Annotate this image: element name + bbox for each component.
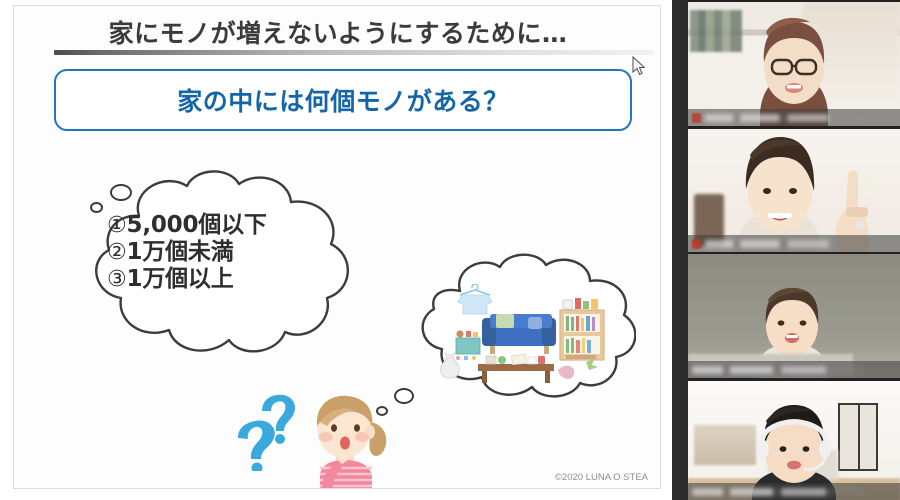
- presentation-slide: 家にモノが増えないようにするために… 家の中には何個モノがある？ ①5,000個…: [13, 5, 661, 489]
- thought-bubble-tiny: [90, 202, 103, 213]
- participant-video-panel: [688, 0, 900, 500]
- slide-title: 家にモノが増えないようにするために…: [14, 14, 661, 50]
- video-feed: [688, 129, 900, 252]
- participant-name-bar: [688, 235, 900, 252]
- option-text: 1万個以上: [127, 266, 234, 292]
- thought-bubble-small: [394, 388, 414, 404]
- video-tile-participant-1[interactable]: [688, 2, 900, 126]
- cluttered-room-illustration: [434, 284, 614, 384]
- participant-silhouette-2: [688, 129, 900, 252]
- hanging-clothes-icon: [458, 284, 492, 314]
- participant-name-label: [705, 114, 864, 122]
- option-text: 1万個未満: [127, 239, 234, 265]
- participant-silhouette-1: [688, 2, 900, 126]
- bookshelf-icon: [560, 298, 604, 360]
- video-tile-participant-2[interactable]: [688, 129, 900, 252]
- video-feed: [688, 2, 900, 126]
- microphone-muted-icon: [692, 113, 701, 123]
- shared-screen-area: 家にモノが増えないようにするために… 家の中には何個モノがある？ ①5,000個…: [0, 0, 672, 500]
- question-box: 家の中には何個モノがある？: [54, 69, 632, 131]
- participant-name-label: [692, 488, 864, 496]
- list-item: ③1万個以上: [107, 266, 333, 293]
- option-marker: ③: [107, 267, 127, 292]
- thought-bubble-small: [110, 184, 132, 201]
- sofa-icon: [482, 314, 556, 354]
- list-item: ②1万個未満: [107, 239, 333, 266]
- option-marker: ①: [107, 213, 127, 238]
- coffee-table-icon: [478, 354, 554, 383]
- participant-name-bar: [688, 109, 900, 126]
- title-divider-rule: [54, 50, 654, 55]
- participant-name-label: [692, 366, 864, 374]
- video-tile-participant-3[interactable]: [688, 254, 900, 378]
- microphone-muted-icon: [692, 239, 701, 249]
- option-marker: ②: [107, 240, 127, 265]
- video-tile-participant-4[interactable]: [688, 381, 900, 500]
- participant-name-label: [705, 240, 864, 248]
- screen-share-meeting-view: 家にモノが増えないようにするために… 家の中には何個モノがある？ ①5,000個…: [0, 0, 900, 500]
- toy-box-icon: [456, 330, 480, 360]
- options-list: ①5,000個以下 ②1万個未満 ③1万個以上: [107, 212, 333, 293]
- mouse-cursor-icon: [632, 56, 646, 76]
- participant-name-bar: [688, 483, 900, 500]
- participant-name-bar: [688, 361, 900, 378]
- question-text: 家の中には何個モノがある？: [177, 82, 509, 118]
- copyright-text: ©2020 LUNA O STEA: [555, 472, 648, 483]
- list-item: ①5,000個以下: [107, 212, 333, 239]
- video-feed: [688, 254, 900, 378]
- option-text: 5,000個以下: [127, 212, 267, 238]
- panel-divider: [672, 0, 688, 500]
- thinking-woman-illustration: [296, 388, 396, 489]
